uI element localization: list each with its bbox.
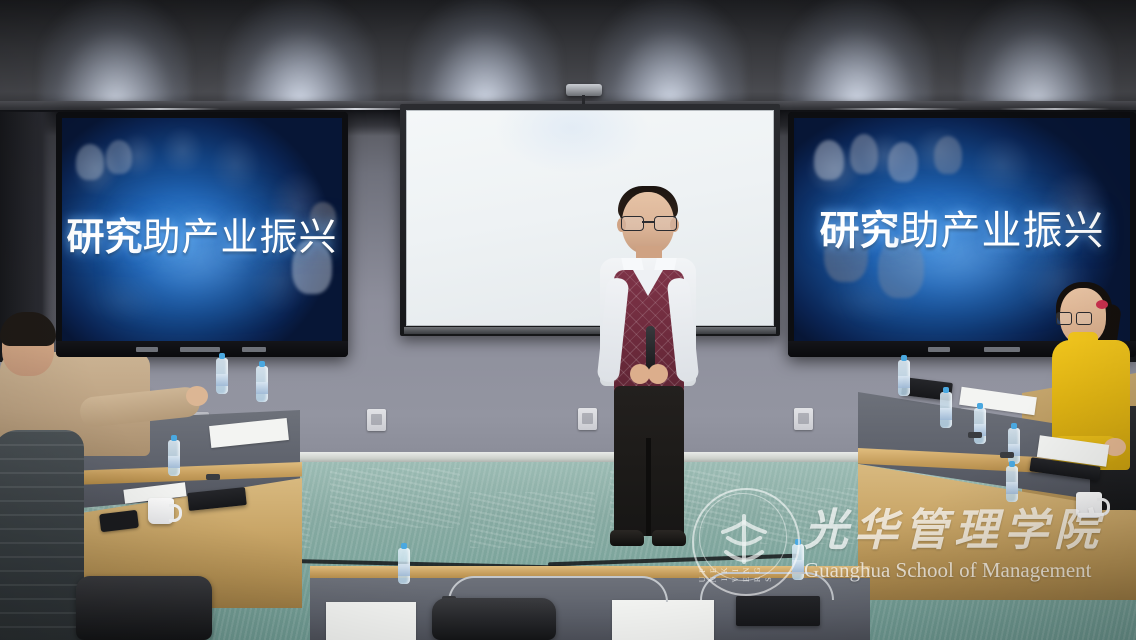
wall-outlet-3: [794, 408, 813, 430]
right-slide-heading: 研究助产业振兴: [794, 198, 1130, 256]
lecture-hall-frame: 研究助产业振兴 研究助产业振兴: [0, 0, 1136, 640]
coffee-mug: [1076, 492, 1102, 518]
paper-sheet: [326, 602, 416, 640]
hair-tie: [1096, 300, 1108, 309]
ceiling-light-6: [962, 0, 1112, 104]
left-display-chin: [56, 341, 348, 357]
gooseneck-microphone: [1000, 452, 1014, 458]
water-bottle: [398, 548, 410, 584]
audience-reflection: [888, 142, 918, 182]
left-slide-heading: 研究助产业振兴: [62, 206, 342, 261]
water-bottle: [1006, 466, 1018, 502]
water-bottle: [168, 440, 180, 476]
display-brand: [984, 347, 1020, 352]
carpet-tile: [330, 468, 460, 528]
panelist-right: [1044, 288, 1136, 518]
left-display-screen: 研究助产业振兴: [62, 118, 342, 351]
panelist-left-hair: [0, 312, 56, 346]
presenter: [588, 186, 708, 566]
display-indicator: [136, 347, 158, 352]
audience-reflection: [106, 140, 132, 174]
presenter-glasses: [621, 216, 675, 229]
water-bottle: [1008, 428, 1020, 464]
left-display-panel[interactable]: 研究助产业振兴: [56, 112, 348, 357]
laptop[interactable]: [736, 596, 820, 626]
panelist-right-glasses: [1056, 312, 1090, 323]
glasses-lens-left: [621, 216, 644, 231]
display-indicator-2: [242, 347, 266, 352]
presenter-hand-left: [630, 364, 650, 384]
glasses-lens-left: [1056, 312, 1072, 325]
presenter-hand-right: [648, 364, 668, 384]
audience-reflection: [76, 144, 104, 180]
water-bottle: [216, 358, 228, 394]
gooseneck-microphone: [206, 474, 220, 480]
wall-outlet-1: [367, 409, 386, 431]
ceiling: [0, 0, 1136, 118]
ceiling-light-5: [782, 0, 932, 104]
presenter-shoe-right: [652, 530, 686, 546]
carpet-tile: [470, 492, 595, 548]
water-bottle: [974, 408, 986, 444]
left-slide-heading-light: 助产业振兴: [143, 217, 338, 259]
water-bottle: [940, 392, 952, 428]
ceiling-light-1: [40, 0, 190, 104]
coffee-mug: [148, 498, 174, 524]
office-chair: [432, 598, 556, 640]
audience-reflection: [850, 134, 878, 174]
presenter-shoe-left: [610, 530, 644, 546]
ceiling-light-2: [225, 0, 375, 104]
water-bottle: [898, 360, 910, 396]
office-chair: [76, 576, 212, 640]
ceiling-light-4: [595, 0, 745, 104]
paper-sheet: [612, 600, 714, 640]
right-slide-heading-bold: 研究: [820, 209, 900, 253]
presenter-leg-gap: [646, 438, 651, 536]
display-brand: [180, 347, 220, 352]
audience-reflection: [934, 136, 962, 174]
display-indicator: [928, 347, 950, 352]
water-bottle: [256, 366, 268, 402]
ceiling-light-3: [410, 0, 560, 104]
panelist-left-foreground-vest: [0, 430, 84, 640]
glasses-lens-right: [654, 216, 677, 231]
glasses-bridge: [642, 221, 654, 223]
glasses-lens-right: [1076, 312, 1092, 325]
left-slide-heading-bold: 研究: [66, 217, 142, 259]
audience-reflection: [814, 140, 844, 180]
gooseneck-microphone: [968, 432, 982, 438]
panelist-left-hand: [186, 386, 208, 406]
right-slide-heading-light: 助产业振兴: [900, 209, 1105, 253]
